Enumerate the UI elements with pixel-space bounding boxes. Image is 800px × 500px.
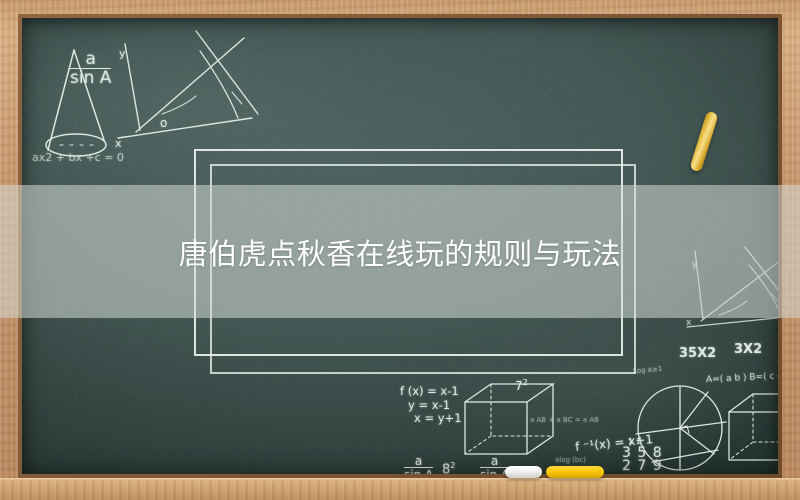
angle-diagram-top [92,26,292,166]
chalkboard-frame: a sin A [0,0,800,500]
axis-label-y-left: y [119,47,126,60]
fraction-numerator: a [480,455,509,467]
ledge-wood-grain [0,478,800,500]
angle-label-o: o [160,116,167,130]
multiply-label-1: 35X2 [679,346,716,361]
chalk-stick-yellow [689,111,718,173]
title-overlay-band: 唐伯虎点秋香在线玩的规则与玩法 [0,185,800,318]
cube-diagram-left [457,378,577,468]
power-eight: 82 [442,461,455,474]
fraction-a-over-sina-left: a sin A [70,51,111,88]
axis-label-x-right: x [686,318,691,328]
fraction-denominator: sin A [404,467,433,474]
fraction-denominator: sin A [70,68,111,88]
chalk-tray-ledge [0,478,800,500]
ledge-lip [0,478,800,481]
multiply-label-2: 3X2 [734,342,762,357]
quadratic-equation: ax2 + bx +c = 0 [32,151,124,164]
cone-diagram [30,32,220,182]
tray-chalk-white [505,466,542,478]
tray-chalk-yellow [546,466,604,478]
vector-note: a AB + a BC = a AB [530,416,599,424]
fraction-numerator: a [70,51,111,68]
function-line-2: y = x-1 [408,398,450,412]
matrix-note: A=( a b ) B=( c d ) I=( e f ) [706,369,778,385]
addition-sum: 6 3 7 [622,473,663,474]
cube-diagram-right [725,390,778,474]
axis-label-x-left: x [115,137,122,150]
fraction-a-over-sina-bottom-left: a sin A [404,455,433,474]
function-line-1: f (x) = x-1 [400,385,459,398]
inverse-function: f ⁻¹(x) = x+1 [574,432,653,454]
addition-rule-line [620,473,670,474]
addition-carry: 1 1 [628,437,641,446]
log-small-note: Log a≥1 [633,365,663,376]
power-seven: 72 [515,378,528,393]
addition-addend-2: 2 7 9 [622,458,663,474]
page-title: 唐伯虎点秋香在线玩的规则与玩法 [179,231,622,273]
fraction-numerator: a [404,455,433,467]
function-line-3: x = y+1 [414,411,462,425]
circle-diagram [622,378,742,474]
addition-addend-1: 3 5 8 [622,445,663,461]
log-note: alog (bc) [555,456,586,464]
